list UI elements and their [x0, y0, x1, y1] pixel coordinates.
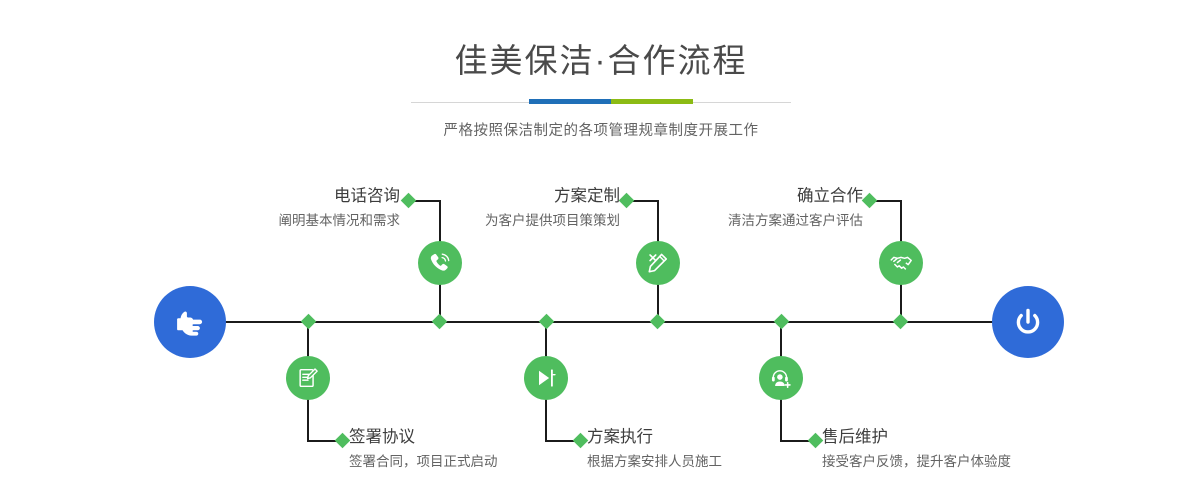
play-execute-icon [534, 366, 558, 390]
pointing-hand-icon [170, 302, 210, 342]
timeline-marker-top-2 [650, 314, 666, 330]
step-title: 售后维护 [822, 427, 1142, 448]
step-title: 方案定制 [340, 186, 620, 207]
step-icon-document-sign[interactable] [286, 356, 330, 400]
phone-call-icon [427, 250, 453, 276]
timeline-marker-bottom-2 [539, 314, 555, 330]
branch-marker-top-3 [862, 193, 878, 209]
step-label-top-3: 确立合作 清洁方案通过客户评估 [583, 186, 863, 229]
timeline-marker-bottom-1 [301, 314, 317, 330]
step-icon-phone-call[interactable] [418, 241, 462, 285]
step-icon-handshake[interactable] [879, 241, 923, 285]
document-sign-icon [296, 366, 320, 390]
pencil-plan-icon [645, 250, 671, 276]
timeline-marker-top-1 [432, 314, 448, 330]
step-desc: 为客户提供项目策策划 [340, 212, 620, 230]
step-title: 确立合作 [583, 186, 863, 207]
timeline-marker-bottom-3 [774, 314, 790, 330]
power-icon [1008, 302, 1048, 342]
timeline-marker-top-3 [893, 314, 909, 330]
timeline: 电话咨询 阐明基本情况和需求 方案定制 为客户提供项目策策划 [0, 0, 1202, 502]
branch-marker-bottom-1 [335, 433, 351, 449]
step-desc: 接受客户反馈，提升客户体验度 [822, 453, 1142, 471]
step-label-bottom-3: 售后维护 接受客户反馈，提升客户体验度 [822, 427, 1142, 470]
timeline-end-node[interactable] [992, 286, 1064, 358]
step-icon-customer-service[interactable] [759, 356, 803, 400]
timeline-start-node[interactable] [154, 286, 226, 358]
cooperation-flow-infographic: 佳美保洁·合作流程 严格按照保洁制定的各项管理规章制度开展工作 [0, 0, 1202, 502]
step-icon-pencil-plan[interactable] [636, 241, 680, 285]
step-icon-play-execute[interactable] [524, 356, 568, 400]
step-label-top-2: 方案定制 为客户提供项目策策划 [340, 186, 620, 229]
step-desc: 清洁方案通过客户评估 [583, 212, 863, 230]
handshake-icon [888, 250, 914, 276]
customer-service-icon [769, 366, 793, 390]
